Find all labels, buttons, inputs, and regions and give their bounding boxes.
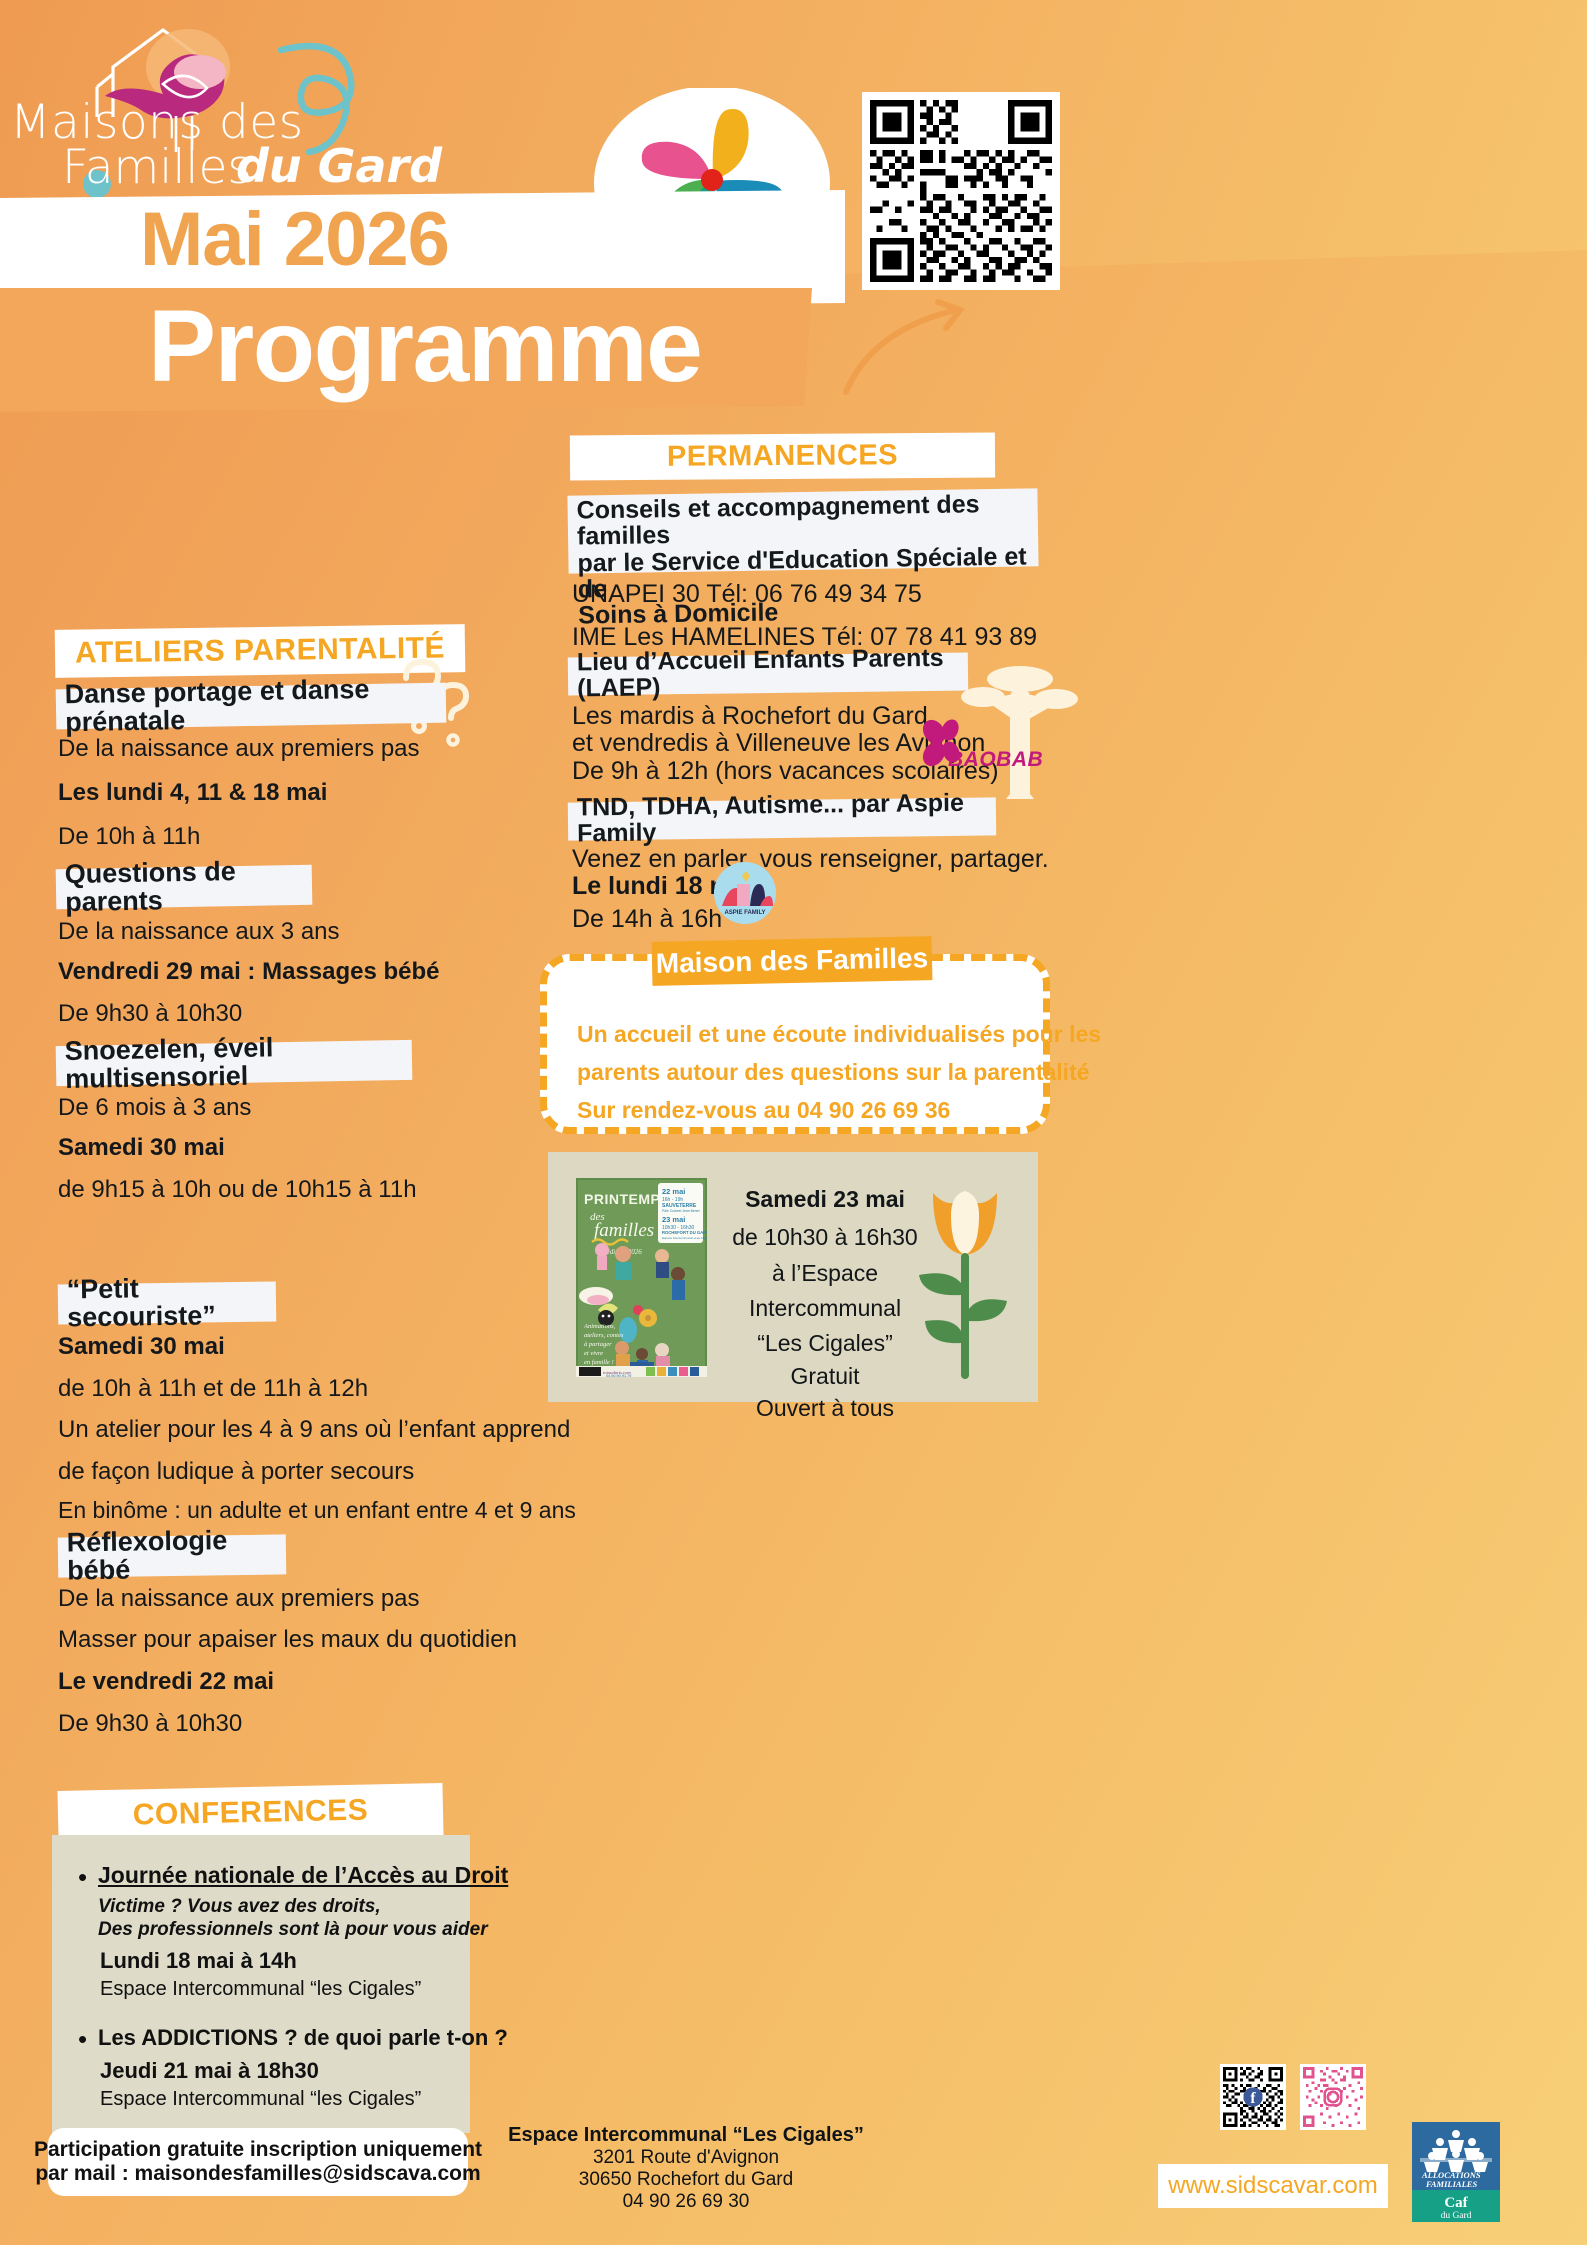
atelier-title: Réflexologie bébé <box>58 1534 287 1577</box>
participation-box: Participation gratuite inscription uniqu… <box>48 2128 468 2196</box>
conference-when: Lundi 18 mai à 14h <box>100 1948 297 1974</box>
page-title: Programme <box>148 288 701 405</box>
atelier-line: De 10h à 11h <box>58 823 200 851</box>
atelier-line: En binôme : un adulte et un enfant entre… <box>58 1497 576 1524</box>
atelier-line: Un atelier pour les 4 à 9 ans où l’enfan… <box>58 1416 570 1444</box>
venue-name: Espace Intercommunal “Les Cigales” <box>486 2124 886 2147</box>
logo-line-3: du Gard <box>236 139 442 193</box>
phone-number: 04 90 26 69 30 <box>486 2191 886 2213</box>
atelier-line: De 9h30 à 10h30 <box>58 1710 242 1738</box>
atelier-line: Masser pour apaiser les maux du quotidie… <box>58 1626 517 1654</box>
logo-line-2: Familles <box>62 140 252 195</box>
permanence-line: UNAPEI 30 Tél: 06 76 49 34 75 <box>572 580 922 609</box>
address-line-1: 3201 Route d'Avignon <box>486 2147 886 2169</box>
permanence-title-line: TND, TDHA, Autisme... par Aspie Family <box>577 789 988 847</box>
permanence-title: Conseils et accompagnement des familles … <box>567 488 1038 573</box>
poster-title-3: familles <box>594 1220 654 1241</box>
poster-place-2: ROCHEFORT DU GARD <box>662 1230 707 1235</box>
conference-title: Journée nationale de l’Accès au Droit <box>98 1862 508 1889</box>
participation-line-2: par mail : maisondesfamilles@sidscava.co… <box>35 2162 480 2186</box>
atelier-line: de 10h à 11h et de 11h à 12h <box>58 1375 368 1403</box>
atelier-title: “Petit secouriste” <box>58 1281 277 1324</box>
baobab-tree-icon <box>960 655 1080 800</box>
caf-line-3: Caf <box>1444 2195 1468 2211</box>
atelier-title: Questions de parents <box>56 865 313 909</box>
caf-line-2: FAMILIALES <box>1425 2179 1477 2189</box>
permanence-title-line: Conseils et accompagnement des familles <box>576 490 1029 550</box>
venue-address: Espace Intercommunal “Les Cigales” 3201 … <box>486 2124 886 2213</box>
poster-phone: 04.90.90.91.79 <box>606 1374 631 1377</box>
tulip-icon <box>905 1175 1025 1380</box>
atelier-line: De la naissance aux premiers pas <box>58 735 420 763</box>
caf-logo: ALLOCATIONS FAMILIALES Caf du Gard <box>1412 2122 1500 2222</box>
atelier-line: Vendredi 29 mai : Massages bébé <box>58 958 440 986</box>
bullet-icon: • <box>78 1862 87 1893</box>
website-link[interactable]: www.sidscavar.com <box>1158 2164 1388 2208</box>
atelier-line: de façon ludique à porter secours <box>58 1458 414 1486</box>
qr-code-top[interactable] <box>862 92 1060 290</box>
permanence-title: TND, TDHA, Autisme... par Aspie Family <box>568 797 996 840</box>
poster-venue-1: Pôle Culturel Jean Benet <box>662 1209 700 1213</box>
atelier-line: De la naissance aux 3 ans <box>58 918 340 946</box>
qr-code-instagram[interactable] <box>1300 2064 1366 2130</box>
mdf-line-1: Un accueil et une écoute individualisés … <box>577 1021 1101 1048</box>
maison-des-familles-box: Maison des Familles Un accueil et une éc… <box>540 954 1050 1134</box>
mdf-line-3: Sur rendez-vous au 04 90 26 69 36 <box>577 1097 950 1124</box>
baobab-label: BAOBAB <box>948 748 1043 772</box>
conference-where: Espace Intercommunal “les Cigales” <box>100 2088 421 2111</box>
printemps-poster-image: PRINTEMPS des familles 15ᵉ édition 2026 … <box>576 1178 707 1377</box>
atelier-line: De 9h30 à 10h30 <box>58 1000 242 1028</box>
conference-title: Les ADDICTIONS ? de quoi parle t-on ? <box>98 2025 508 2051</box>
qr-code-facebook[interactable]: f <box>1220 2064 1286 2130</box>
aspie-family-badge: ASPIE FAMILY <box>714 862 776 924</box>
poster-title-1: PRINTEMPS <box>584 1191 670 1207</box>
address-line-2: 30650 Rochefort du Gard <box>486 2169 886 2191</box>
atelier-line: De la naissance aux premiers pas <box>58 1585 420 1613</box>
permanence-line: Les mardis à Rochefort du Gard <box>572 702 928 731</box>
permanence-title-line: Lieu d’Accueil Enfants Parents (LAEP) <box>577 644 960 701</box>
facebook-icon: f <box>1250 2090 1256 2107</box>
poster-tagline-2: ateliers, contes <box>584 1332 624 1339</box>
aspie-label: ASPIE FAMILY <box>724 910 765 916</box>
permanence-line: De 14h à 16h <box>572 905 722 934</box>
poster-date-2: 23 mai <box>662 1215 685 1224</box>
section-heading-permanences: PERMANENCES <box>570 433 995 481</box>
poster-root: Maisons des Familles du Gard SIDSCAVAR <box>0 0 1587 2245</box>
poster-venue-2: Espace Intercommunal «Les Cigales» <box>662 1236 707 1240</box>
poster-tagline-5: en famille ! <box>584 1359 614 1366</box>
participation-line-1: Participation gratuite inscription uniqu… <box>34 2138 482 2162</box>
atelier-title: Danse portage et danse prénatale <box>56 683 447 730</box>
atelier-line: De 6 mois à 3 ans <box>58 1094 251 1122</box>
permanence-line: Venez en parler, vous renseigner, partag… <box>572 845 1049 874</box>
conference-where: Espace Intercommunal “les Cigales” <box>100 1978 421 2001</box>
poster-tagline-4: et vivre <box>584 1350 603 1357</box>
poster-date-1: 22 mai <box>662 1187 685 1196</box>
atelier-line: Les lundi 4, 11 & 18 mai <box>58 779 327 807</box>
conference-subtitle-1: Victime ? Vous avez des droits, <box>98 1896 381 1918</box>
poster-tagline-3: à partager <box>584 1341 612 1348</box>
atelier-line: Samedi 30 mai <box>58 1333 225 1361</box>
maison-des-familles-chip: Maison des Familles <box>652 936 933 986</box>
conference-subtitle-2: Des professionnels sont là pour vous aid… <box>98 1919 488 1941</box>
month-label: Mai 2026 <box>140 196 449 283</box>
permanence-title: Lieu d’Accueil Enfants Parents (LAEP) <box>568 653 968 696</box>
atelier-line: Samedi 30 mai <box>58 1134 225 1162</box>
atelier-line: Le vendredi 22 mai <box>58 1668 274 1696</box>
conference-when: Jeudi 21 mai à 18h30 <box>100 2058 319 2084</box>
atelier-line: de 9h15 à 10h ou de 10h15 à 11h <box>58 1176 417 1204</box>
atelier-title: Snoezelen, éveil multisensoriel <box>56 1040 413 1086</box>
curved-arrow-icon <box>838 296 1008 396</box>
bullet-icon: • <box>78 2024 87 2055</box>
poster-tagline-1: Animations, <box>583 1323 616 1330</box>
mdf-line-2: parents autour des questions sur la pare… <box>577 1059 1090 1086</box>
printemps-info-line: Ouvert à tous <box>710 1395 940 1422</box>
caf-line-4: du Gard <box>1441 2211 1472 2221</box>
